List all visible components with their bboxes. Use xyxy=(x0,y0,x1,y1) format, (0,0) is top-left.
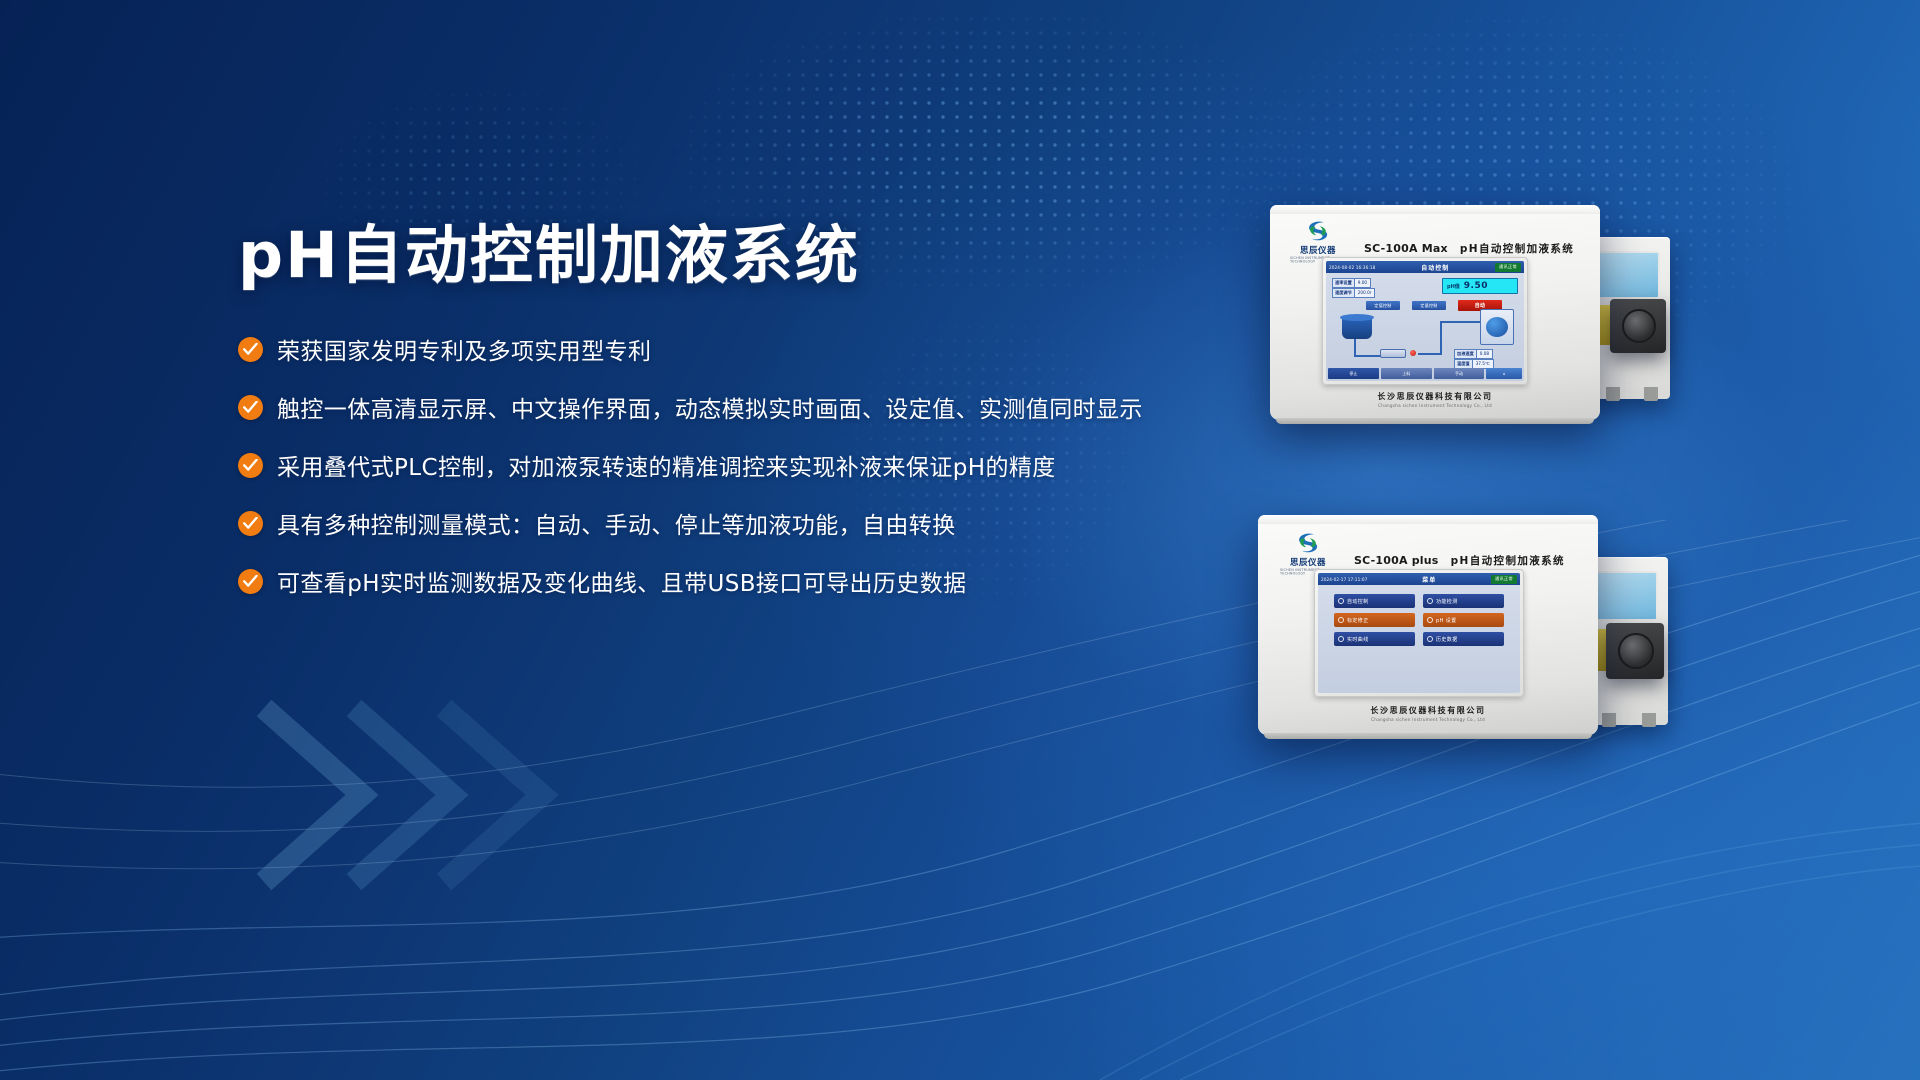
check-icon xyxy=(238,453,263,478)
hmi-screen-auto-control[interactable]: 2024-08-02 16:36:18 自动控制 通讯正常 速率设置 9.00 … xyxy=(1326,261,1524,381)
company-name-en: Changsha sichen Instrument Technology Co… xyxy=(1258,717,1598,722)
feature-item-patent: 荣获国家发明专利及多项实用型专利 xyxy=(238,332,1258,366)
tab-stop[interactable]: 停止 xyxy=(1328,368,1379,379)
field-dosing-speed: 加液速度 0.08 xyxy=(1454,349,1493,359)
field-value: 9.00 xyxy=(1355,279,1370,287)
field-label: 加液速度 xyxy=(1455,350,1477,358)
valve-indicator xyxy=(1410,350,1416,356)
screen-title: 菜单 xyxy=(1422,575,1436,584)
feature-item-modes: 具有多种控制测量模式：自动、手动、停止等加液功能，自由转换 xyxy=(238,506,1258,540)
menu-item-calibration[interactable]: 标定修正 xyxy=(1334,613,1415,627)
device-enclosure: 思辰仪器 SICHEN INSTRUMENT TECHNOLOGY SC-100… xyxy=(1270,205,1600,420)
touchscreen-top[interactable]: 2024-08-02 16:36:18 自动控制 通讯正常 速率设置 9.00 … xyxy=(1322,257,1528,385)
check-icon xyxy=(238,569,263,594)
menu-item-history-data[interactable]: 历史数据 xyxy=(1423,632,1504,646)
brand-name-cn: 思辰仪器 xyxy=(1290,556,1326,568)
company-footer-top: 长沙思辰仪器科技有限公司 Changsha sichen Instrument … xyxy=(1270,391,1600,408)
company-name-cn: 长沙思辰仪器科技有限公司 xyxy=(1270,391,1600,402)
sliders-icon xyxy=(1427,617,1433,623)
tab-manual[interactable]: 手动 xyxy=(1434,368,1485,379)
menu-item-function-test[interactable]: 功能检测 xyxy=(1423,594,1504,608)
ph-value: 9.50 xyxy=(1464,281,1488,291)
field-value: 0.08 xyxy=(1477,350,1492,358)
touchscreen-bottom[interactable]: 2024-02-17 17:11:07 菜单 通讯正常 自动控制 xyxy=(1314,569,1524,697)
model-description: pH自动控制加液系统 xyxy=(1460,243,1574,255)
model-label-bottom: SC-100A plus pH自动控制加液系统 xyxy=(1354,549,1565,568)
company-footer-bottom: 长沙思辰仪器科技有限公司 Changsha sichen Instrument … xyxy=(1258,705,1598,722)
button-dosing-control[interactable]: 定量控制 xyxy=(1412,301,1446,310)
screen-title: 自动控制 xyxy=(1421,263,1449,272)
model-label-top: SC-100A Max pH自动控制加液系统 xyxy=(1364,237,1574,256)
menu-item-label: pH 设置 xyxy=(1436,617,1457,624)
database-icon xyxy=(1427,636,1433,642)
company-name-en: Changsha sichen Instrument Technology Co… xyxy=(1270,403,1600,408)
screen-timestamp: 2024-02-17 17:11:07 xyxy=(1321,577,1367,582)
brand-name-cn: 思辰仪器 xyxy=(1300,244,1336,256)
screen-status-bar: 2024-02-17 17:11:07 菜单 通讯正常 xyxy=(1318,573,1520,585)
field-value: 37.5℃ xyxy=(1473,360,1493,368)
pump-graphic xyxy=(1380,349,1406,358)
screen-canvas: 速率设置 9.00 速度调节 200.0r pH值 9.50 定值控制 定量控 xyxy=(1326,273,1524,381)
feature-text: 触控一体高清显示屏、中文操作界面，动态模拟实时画面、设定值、实测值同时显示 xyxy=(277,390,1143,424)
pump-rotor xyxy=(1622,309,1656,343)
check-icon xyxy=(238,337,263,362)
chevron-decoration xyxy=(250,690,570,900)
screen-tab-bar: 停止 上料 手动 ⌂ xyxy=(1328,368,1522,379)
screen-status-bar: 2024-08-02 16:36:18 自动控制 通讯正常 xyxy=(1326,261,1524,273)
field-label: 温度值 xyxy=(1455,360,1473,368)
feature-text: 荣获国家发明专利及多项实用型专利 xyxy=(277,332,651,366)
target-icon xyxy=(1338,617,1344,623)
product-photo-sc100a-plus: 思辰仪器 SICHEN INSTRUMENT TECHNOLOGY SC-100… xyxy=(1258,515,1678,780)
company-name-cn: 长沙思辰仪器科技有限公司 xyxy=(1258,705,1598,716)
feature-list: 荣获国家发明专利及多项实用型专利 触控一体高清显示屏、中文操作界面，动态模拟实时… xyxy=(238,332,1258,598)
screen-canvas: 自动控制 功能检测 标定修正 xyxy=(1318,585,1520,693)
menu-item-realtime-curve[interactable]: 实时曲线 xyxy=(1334,632,1415,646)
tank-lid-graphic xyxy=(1340,314,1374,321)
field-label: 速率设置 xyxy=(1333,279,1355,287)
menu-item-label: 实时曲线 xyxy=(1347,636,1369,643)
field-value: 200.0r xyxy=(1355,289,1375,297)
sichen-logo-icon xyxy=(1295,531,1321,555)
device-enclosure: 思辰仪器 SICHEN INSTRUMENT TECHNOLOGY SC-100… xyxy=(1258,515,1598,735)
menu-item-label: 标定修正 xyxy=(1347,617,1369,624)
feature-text: 可查看pH实时监测数据及变化曲线、且带USB接口可导出历史数据 xyxy=(277,564,967,598)
button-setpoint-control[interactable]: 定值控制 xyxy=(1366,301,1400,310)
feature-item-data: 可查看pH实时监测数据及变化曲线、且带USB接口可导出历史数据 xyxy=(238,564,1258,598)
check-icon xyxy=(238,395,263,420)
copy-block: pH自动控制加液系统 荣获国家发明专利及多项实用型专利 触控一体高清显示屏、中文… xyxy=(238,222,1258,622)
gear-icon xyxy=(1338,598,1344,604)
check-icon xyxy=(238,511,263,536)
home-icon[interactable]: ⌂ xyxy=(1486,368,1522,379)
model-code: SC-100A plus xyxy=(1354,554,1439,567)
model-description: pH自动控制加液系统 xyxy=(1451,555,1565,567)
menu-item-auto-control[interactable]: 自动控制 xyxy=(1334,594,1415,608)
menu-item-label: 自动控制 xyxy=(1347,598,1369,605)
sichen-logo-icon xyxy=(1305,219,1331,243)
screen-timestamp: 2024-08-02 16:36:18 xyxy=(1329,265,1375,270)
ph-readout: pH值 9.50 xyxy=(1442,278,1518,294)
pump-rotor xyxy=(1618,633,1654,669)
model-code: SC-100A Max xyxy=(1364,242,1448,255)
product-photo-sc100a-max: 思辰仪器 SICHEN INSTRUMENT TECHNOLOGY SC-100… xyxy=(1270,205,1690,465)
ph-label: pH值 xyxy=(1447,283,1460,290)
product-banner: pH自动控制加液系统 荣获国家发明专利及多项实用型专利 触控一体高清显示屏、中文… xyxy=(0,0,1920,1080)
field-rate-setting[interactable]: 速率设置 9.00 xyxy=(1332,278,1371,288)
hmi-screen-menu[interactable]: 2024-02-17 17:11:07 菜单 通讯正常 自动控制 xyxy=(1318,573,1520,693)
feature-text: 具有多种控制测量模式：自动、手动、停止等加液功能，自由转换 xyxy=(277,506,956,540)
feature-text: 采用叠代式PLC控制，对加液泵转速的精准调控来实现补液来保证pH的精度 xyxy=(277,448,1056,482)
page-title: pH自动控制加液系统 xyxy=(238,222,1258,290)
menu-item-label: 功能检测 xyxy=(1436,598,1458,605)
chart-icon xyxy=(1338,636,1344,642)
comm-status-badge: 通讯正常 xyxy=(1495,263,1521,272)
wrench-icon xyxy=(1427,598,1433,604)
menu-item-label: 历史数据 xyxy=(1436,636,1458,643)
comm-status-badge: 通讯正常 xyxy=(1491,575,1517,584)
feature-item-display: 触控一体高清显示屏、中文操作界面，动态模拟实时画面、设定值、实测值同时显示 xyxy=(238,390,1258,424)
tab-feed[interactable]: 上料 xyxy=(1381,368,1432,379)
menu-grid: 自动控制 功能检测 标定修正 xyxy=(1318,585,1520,656)
field-speed-adjust[interactable]: 速度调节 200.0r xyxy=(1332,288,1375,298)
feature-item-plc: 采用叠代式PLC控制，对加液泵转速的精准调控来实现补液来保证pH的精度 xyxy=(238,448,1258,482)
menu-item-ph-settings[interactable]: pH 设置 xyxy=(1423,613,1504,627)
field-label: 速度调节 xyxy=(1333,289,1355,297)
